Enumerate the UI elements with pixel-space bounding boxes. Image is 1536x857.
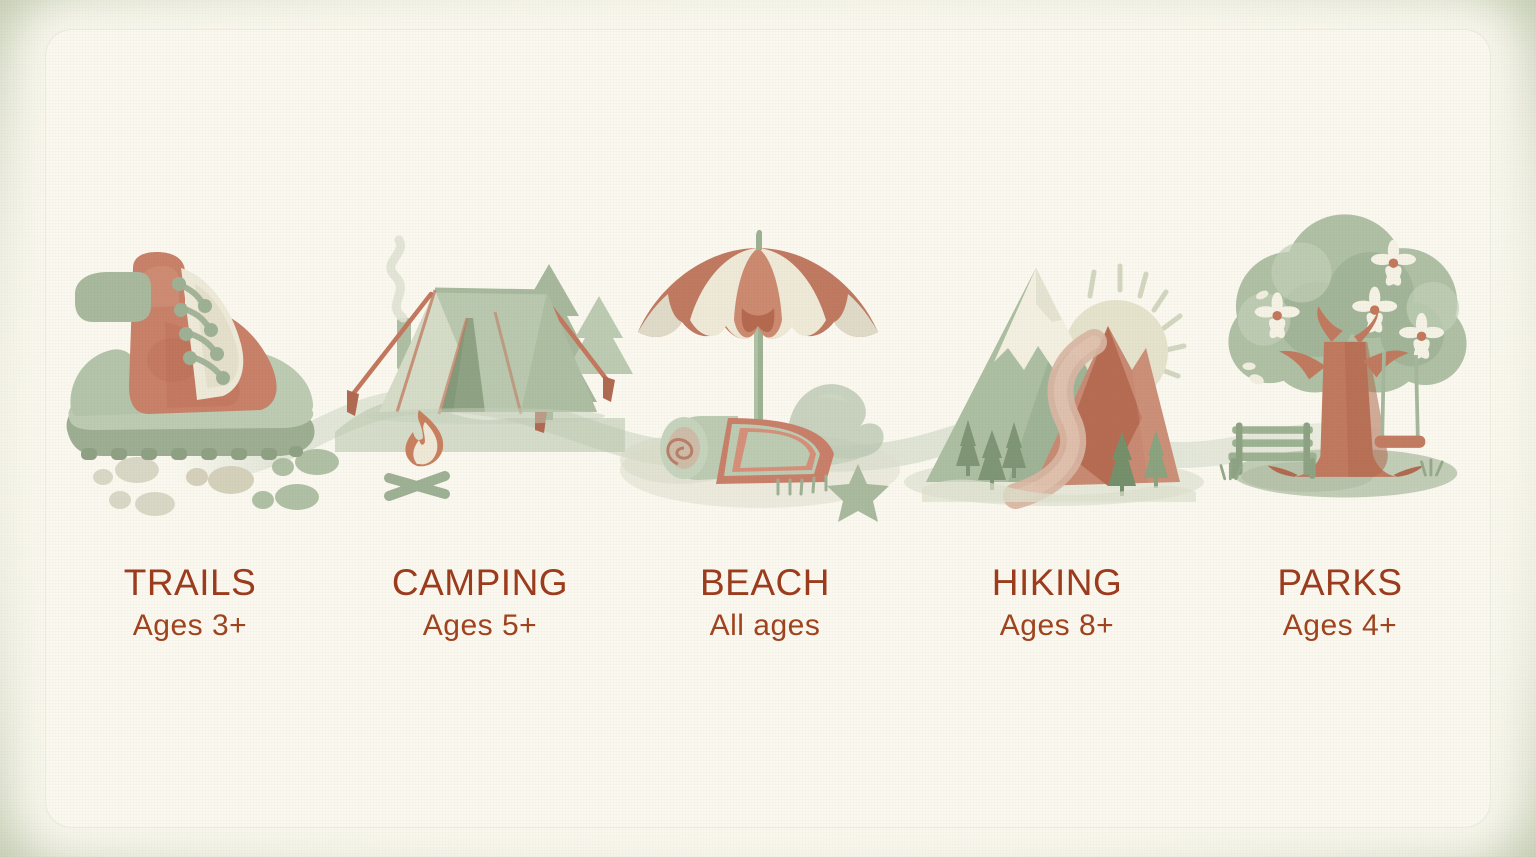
label-block: HIKING Ages 8+ <box>912 564 1202 641</box>
mountain-icon <box>912 230 1202 530</box>
category-card-camping[interactable]: CAMPING Ages 5+ <box>335 222 625 641</box>
tent-campfire-icon <box>335 222 625 522</box>
label-block: CAMPING Ages 5+ <box>335 564 625 641</box>
category-subtitle: Ages 5+ <box>335 611 625 641</box>
category-title: PARKS <box>1195 564 1485 601</box>
category-subtitle: Ages 4+ <box>1195 611 1485 641</box>
category-subtitle: Ages 3+ <box>45 611 335 641</box>
category-card-parks[interactable]: PARKS Ages 4+ <box>1195 205 1485 641</box>
label-block: PARKS Ages 4+ <box>1195 564 1485 641</box>
category-card-hiking[interactable]: HIKING Ages 8+ <box>912 230 1202 641</box>
park-tree-icon <box>1195 205 1485 505</box>
category-card-trails[interactable]: TRAILS Ages 3+ <box>45 232 335 641</box>
category-subtitle: Ages 8+ <box>912 611 1202 641</box>
poster-canvas: TRAILS Ages 3+ <box>0 0 1536 857</box>
category-title: TRAILS <box>45 564 335 601</box>
category-title: CAMPING <box>335 564 625 601</box>
category-title: BEACH <box>620 564 910 601</box>
category-card-beach[interactable]: BEACH All ages <box>620 222 910 641</box>
category-title: HIKING <box>912 564 1202 601</box>
label-block: TRAILS Ages 3+ <box>45 564 335 641</box>
category-subtitle: All ages <box>620 611 910 641</box>
hiking-boot-icon <box>45 232 335 532</box>
label-block: BEACH All ages <box>620 564 910 641</box>
beach-umbrella-icon <box>620 222 910 522</box>
